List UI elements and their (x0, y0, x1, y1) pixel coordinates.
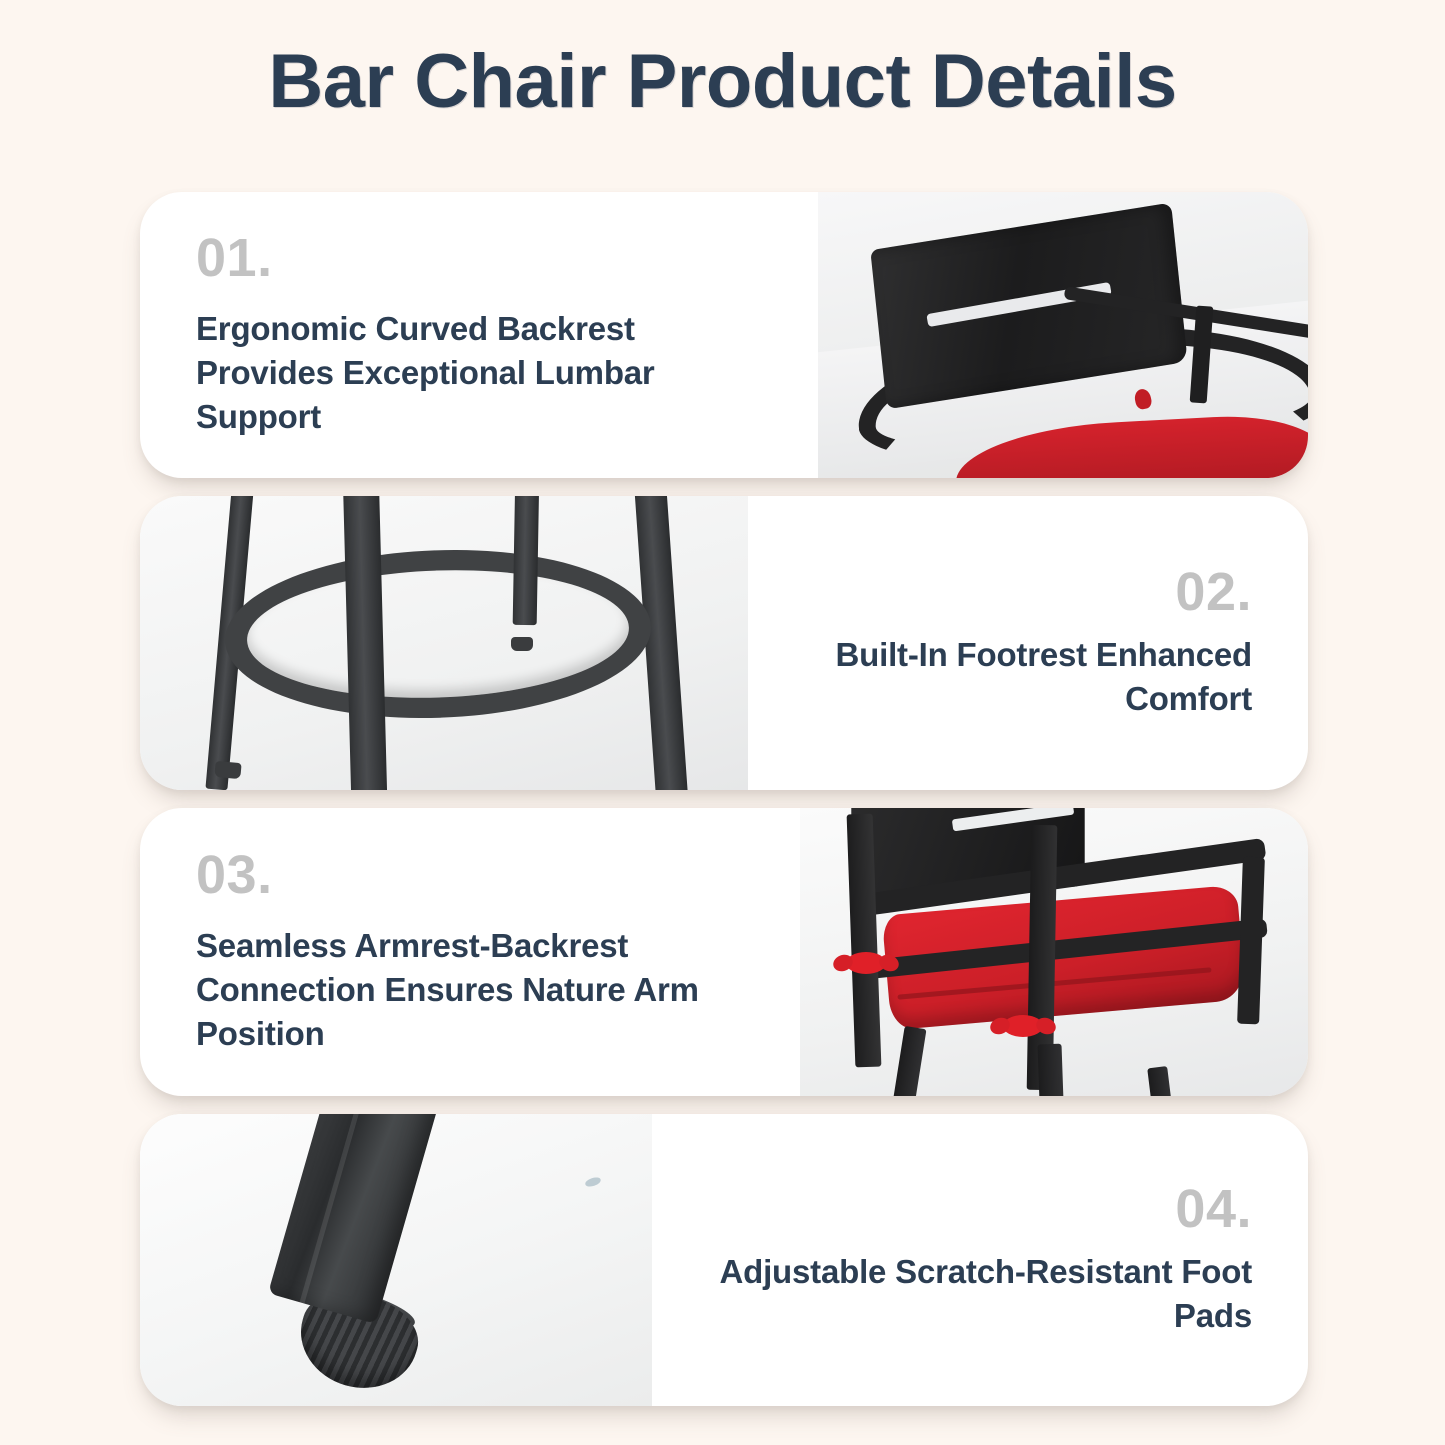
feature-card-01: 01. Ergonomic Curved Backrest Provides E… (140, 192, 1308, 478)
chair-leg-shape (342, 496, 387, 790)
feature-card-04: 04. Adjustable Scratch-Resistant Foot Pa… (140, 1114, 1308, 1406)
footrest-ring-shape (222, 543, 653, 725)
card-number-04: 04. (1175, 1182, 1252, 1236)
card-photo-foot-pad (140, 1114, 652, 1406)
card-text-03: 03. Seamless Armrest-Backrest Connection… (140, 808, 800, 1096)
card-photo-footrest (140, 496, 748, 790)
card-description-04: Adjustable Scratch-Resistant Foot Pads (708, 1250, 1252, 1338)
chair-leg-shape (513, 496, 540, 626)
chair-leg-shape (1147, 1066, 1175, 1096)
card-number-03: 03. (196, 848, 273, 902)
card-photo-backrest (818, 192, 1308, 478)
chair-leg-shape (889, 1026, 926, 1096)
page-title: Bar Chair Product Details (0, 38, 1445, 125)
card-text-01: 01. Ergonomic Curved Backrest Provides E… (140, 192, 818, 478)
leg-foot-shape (511, 637, 533, 651)
card-text-04: 04. Adjustable Scratch-Resistant Foot Pa… (652, 1114, 1308, 1406)
armrest-post-shape (1237, 857, 1265, 1025)
card-description-02: Built-In Footrest Enhanced Comfort (804, 633, 1252, 721)
infographic-page: Bar Chair Product Details 01. Ergonomic … (0, 0, 1445, 1445)
card-description-01: Ergonomic Curved Backrest Provides Excep… (196, 307, 762, 439)
feature-card-02: 02. Built-In Footrest Enhanced Comfort (140, 496, 1308, 790)
card-text-02: 02. Built-In Footrest Enhanced Comfort (748, 496, 1308, 790)
background-speck-shape (584, 1176, 602, 1189)
leg-foot-shape (215, 761, 242, 779)
card-number-01: 01. (196, 231, 273, 285)
red-ribbon-bow-shape (846, 952, 886, 974)
card-description-03: Seamless Armrest-Backrest Connection Ens… (196, 924, 744, 1056)
feature-card-03: 03. Seamless Armrest-Backrest Connection… (140, 808, 1308, 1096)
chair-leg-shape (1037, 1044, 1064, 1096)
card-number-02: 02. (1175, 565, 1252, 619)
card-photo-armrest-connection (800, 808, 1308, 1096)
chair-leg-shape (268, 1114, 450, 1323)
